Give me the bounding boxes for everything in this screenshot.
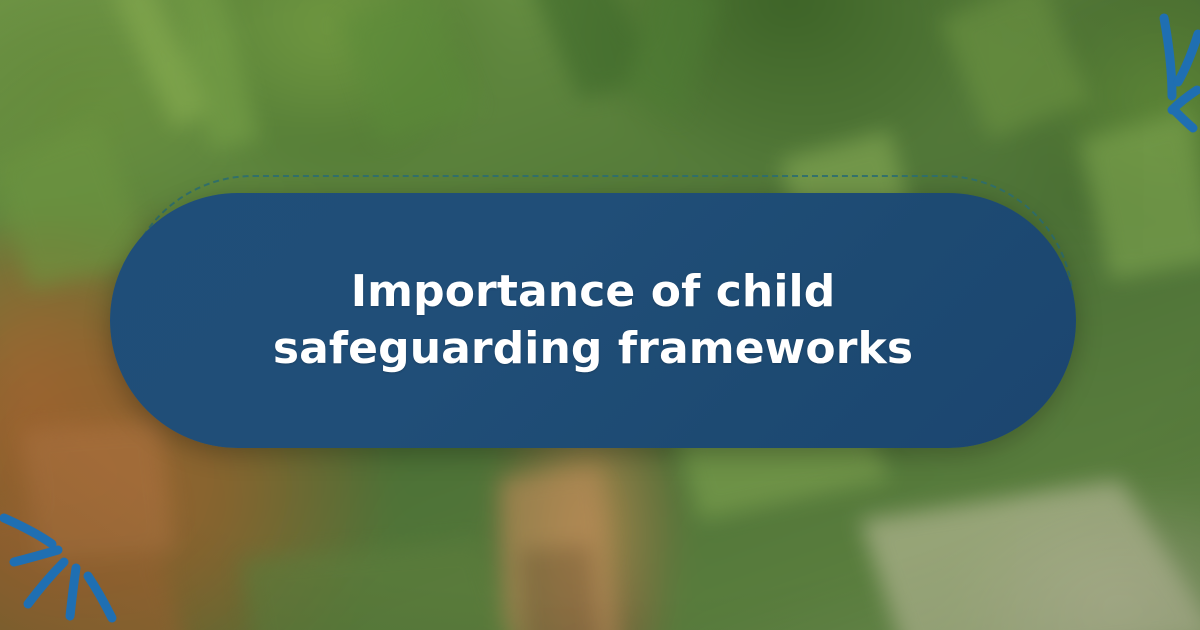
burst-lines-top-right bbox=[1060, 0, 1200, 160]
page-title: Importance of child safeguarding framewo… bbox=[200, 264, 986, 377]
card-body: Importance of child safeguarding framewo… bbox=[110, 193, 1076, 448]
title-card: Importance of child safeguarding framewo… bbox=[110, 175, 1090, 455]
banner-canvas: Importance of child safeguarding framewo… bbox=[0, 0, 1200, 630]
burst-lines-bottom-left bbox=[0, 470, 160, 630]
